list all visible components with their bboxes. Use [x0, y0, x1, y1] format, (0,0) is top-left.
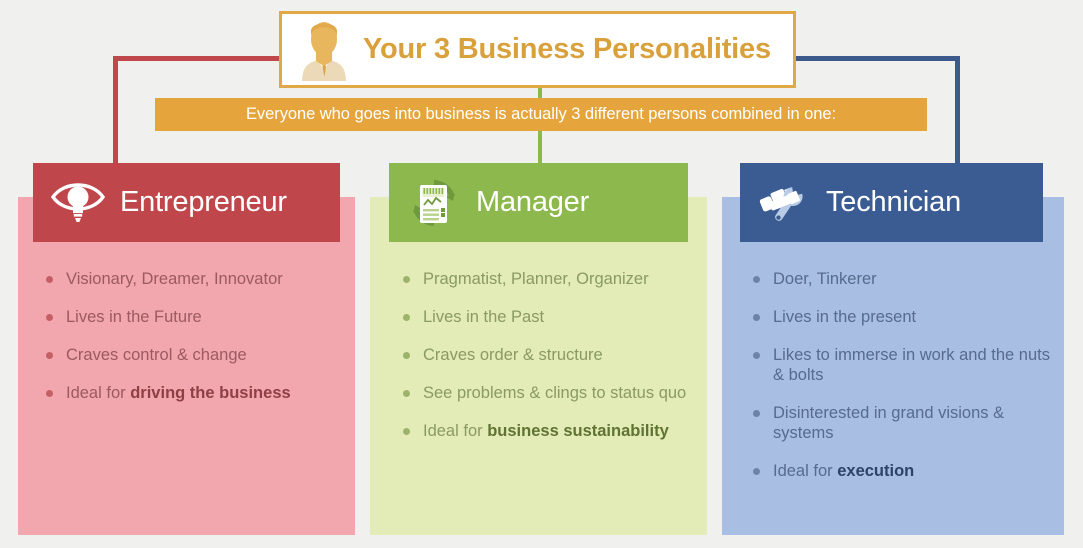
- bullet-text: Ideal for: [66, 384, 130, 402]
- clipboard-cycle-icon: [406, 177, 462, 229]
- list-item: Lives in the Future: [40, 307, 340, 327]
- subtitle-banner: Everyone who goes into business is actua…: [155, 98, 927, 131]
- list-item: See problems & clings to status quo: [397, 383, 697, 403]
- column-label-manager: Manager: [476, 186, 589, 219]
- list-item: Visionary, Dreamer, Innovator: [40, 269, 340, 289]
- column-header-entrepreneur: Entrepreneur: [33, 163, 340, 242]
- bullet-text: Doer, Tinkerer: [773, 270, 877, 288]
- bullet-text: Ideal for: [423, 422, 487, 440]
- bullet-text: Lives in the Past: [423, 308, 544, 326]
- bullet-text: See problems & clings to status quo: [423, 384, 686, 402]
- bullet-text: Lives in the present: [773, 308, 916, 326]
- list-item: Disinterested in grand visions & systems: [747, 403, 1057, 443]
- list-item: Craves order & structure: [397, 345, 697, 365]
- eye-lightbulb-icon: [50, 177, 106, 229]
- paintbrush-wrench-icon: [756, 177, 812, 229]
- bullet-text: Craves control & change: [66, 346, 247, 364]
- list-item: Ideal for execution: [747, 461, 1057, 481]
- list-item: Craves control & change: [40, 345, 340, 365]
- list-item: Pragmatist, Planner, Organizer: [397, 269, 697, 289]
- connector-line-technician-vertical: [955, 56, 960, 169]
- column-header-manager: Manager: [389, 163, 688, 242]
- list-item: Ideal for business sustainability: [397, 421, 697, 441]
- bullet-text: Disinterested in grand visions & systems: [773, 404, 1004, 442]
- list-item: Doer, Tinkerer: [747, 269, 1057, 289]
- bullet-list-technician: Doer, Tinkerer Lives in the present Like…: [747, 269, 1057, 499]
- connector-line-entrepreneur-vertical: [113, 56, 118, 169]
- column-header-technician: Technician: [740, 163, 1043, 242]
- bullet-list-entrepreneur: Visionary, Dreamer, Innovator Lives in t…: [40, 269, 340, 421]
- list-item: Likes to immerse in work and the nuts & …: [747, 345, 1057, 385]
- businessman-avatar-icon: [296, 19, 352, 81]
- title-box: Your 3 Business Personalities: [279, 11, 796, 88]
- bullet-text: Visionary, Dreamer, Innovator: [66, 270, 283, 288]
- bullet-text: Ideal for: [773, 462, 837, 480]
- column-label-technician: Technician: [826, 186, 961, 219]
- bullet-text: Lives in the Future: [66, 308, 202, 326]
- page-title: Your 3 Business Personalities: [363, 33, 771, 66]
- list-item: Ideal for driving the business: [40, 383, 340, 403]
- infographic-canvas: Your 3 Business Personalities Everyone w…: [0, 0, 1083, 548]
- bullet-emphasis: execution: [837, 462, 914, 480]
- bullet-emphasis: business sustainability: [487, 422, 669, 440]
- list-item: Lives in the Past: [397, 307, 697, 327]
- bullet-text: Craves order & structure: [423, 346, 603, 364]
- subtitle-text: Everyone who goes into business is actua…: [246, 105, 836, 124]
- list-item: Lives in the present: [747, 307, 1057, 327]
- bullet-text: Likes to immerse in work and the nuts & …: [773, 346, 1050, 384]
- bullet-text: Pragmatist, Planner, Organizer: [423, 270, 649, 288]
- bullet-list-manager: Pragmatist, Planner, Organizer Lives in …: [397, 269, 697, 459]
- bullet-emphasis: driving the business: [130, 384, 290, 402]
- column-label-entrepreneur: Entrepreneur: [120, 186, 287, 219]
